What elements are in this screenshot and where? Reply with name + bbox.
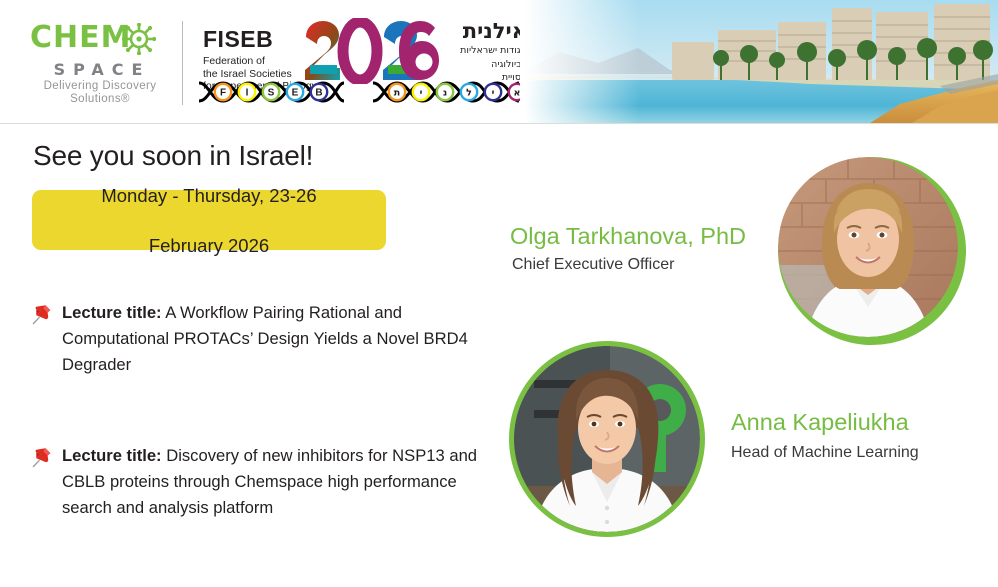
speaker-1-role: Chief Executive Officer — [512, 256, 674, 274]
chemspace-tagline-line2: Solutions® — [26, 93, 174, 106]
speaker-1-name: Olga Tarkhanova, PhD — [510, 223, 746, 250]
chemspace-tagline: Delivering Discovery Solutions® — [26, 80, 174, 106]
chemspace-logo: CHEM — [26, 22, 174, 106]
svg-text:ל: ל — [466, 87, 472, 98]
avatar — [778, 157, 958, 337]
header-bottom-rule — [0, 123, 998, 124]
date-line-1: Monday - Thursday, 23-26 — [101, 183, 316, 208]
svg-text:י: י — [492, 87, 495, 98]
date-badge-text: Monday - Thursday, 23-26 February 2026 — [101, 183, 316, 258]
chemspace-tagline-line1: Delivering Discovery — [26, 80, 174, 93]
date-badge: Monday - Thursday, 23-26 February 2026 — [32, 190, 386, 250]
svg-text:ת: ת — [394, 87, 401, 98]
svg-text:B: B — [315, 88, 322, 99]
chemspace-chem-text: CHEM — [30, 22, 131, 54]
hebrew-subtitle-line1: אגודות ישראליות — [447, 45, 527, 57]
dna-strip-fiseb-icon: F I S E B — [197, 79, 344, 105]
svg-text:S: S — [268, 88, 275, 99]
svg-text:י: י — [420, 87, 423, 98]
slide-header: CHEM — [0, 0, 998, 124]
pushpin-icon — [28, 303, 52, 329]
avatar — [514, 346, 700, 532]
chemspace-space-text: SPACE — [32, 60, 172, 79]
header-divider — [182, 21, 183, 105]
lecture-label-2: Lecture title: — [62, 446, 162, 465]
speaker-2-name: Anna Kapeliukha — [731, 409, 909, 436]
chemspace-wordmark: CHEM — [26, 22, 174, 56]
year-2026-logo — [302, 18, 442, 84]
hebrew-organization-block: אילנית אגודות ישראליות לביולוגיה ניסויית — [447, 19, 527, 84]
dna-strip-hebrew-icon: ת י נ ל י א — [371, 79, 521, 105]
svg-text:E: E — [292, 88, 299, 99]
banner-fade-overlay — [520, 0, 640, 123]
svg-text:נ: נ — [443, 87, 447, 98]
lecture-label-1: Lecture title: — [62, 303, 162, 322]
molecule-icon — [122, 23, 156, 55]
page-title: See you soon in Israel! — [33, 140, 313, 172]
lecture-text-2: Lecture title: Discovery of new inhibito… — [62, 443, 488, 520]
presentation-slide: CHEM — [0, 0, 998, 587]
eilat-beach-banner-image — [520, 0, 998, 123]
speaker-2-role: Head of Machine Learning — [731, 444, 919, 462]
lecture-item-1: Lecture title: A Workflow Pairing Ration… — [28, 300, 488, 377]
lecture-item-2: Lecture title: Discovery of new inhibito… — [28, 443, 488, 520]
hebrew-subtitle-line2: לביולוגיה — [447, 59, 527, 71]
svg-text:I: I — [246, 88, 249, 99]
hebrew-title: אילנית — [447, 19, 527, 43]
date-line-2: February 2026 — [101, 233, 316, 258]
lecture-text-1: Lecture title: A Workflow Pairing Ration… — [62, 300, 488, 377]
pushpin-icon — [28, 446, 52, 472]
svg-text:F: F — [220, 88, 226, 99]
